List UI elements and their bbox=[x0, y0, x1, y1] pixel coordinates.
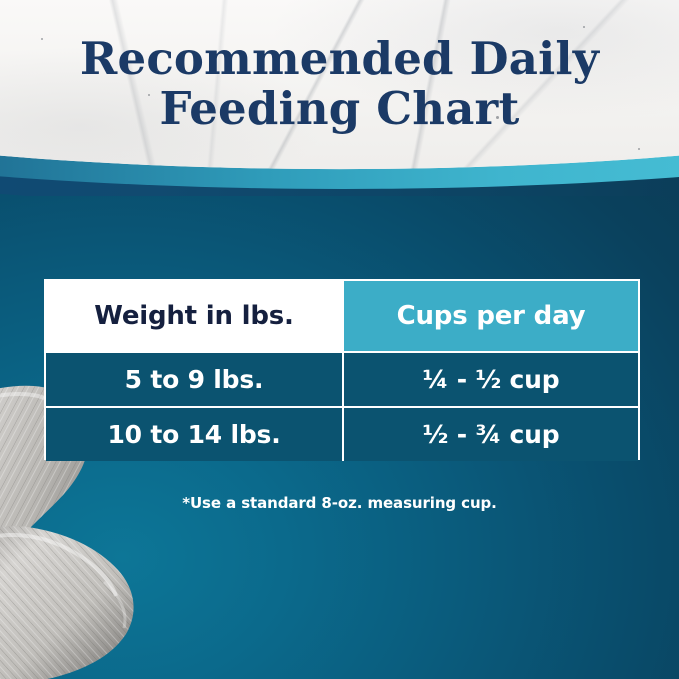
table-row: 10 to 14 lbs. ½ - ¾ cup bbox=[46, 406, 638, 461]
column-header-weight: Weight in lbs. bbox=[46, 281, 342, 351]
table-header-row: Weight in lbs. Cups per day bbox=[46, 281, 638, 351]
cell-weight-range: 5 to 9 lbs. bbox=[46, 353, 342, 406]
table-row: 5 to 9 lbs. ¼ - ½ cup bbox=[46, 351, 638, 406]
feeding-chart-table: Weight in lbs. Cups per day 5 to 9 lbs. … bbox=[44, 279, 640, 460]
column-header-cups: Cups per day bbox=[342, 281, 638, 351]
marble-speck bbox=[583, 26, 585, 28]
cell-cups-amount: ¼ - ½ cup bbox=[342, 353, 638, 406]
cell-cups-amount: ½ - ¾ cup bbox=[342, 408, 638, 461]
footnote-text: *Use a standard 8-oz. measuring cup. bbox=[0, 494, 679, 512]
page-title-line-1: Recommended Daily bbox=[80, 32, 599, 85]
page-title: Recommended Daily Feeding Chart bbox=[0, 34, 679, 134]
cell-weight-range: 10 to 14 lbs. bbox=[46, 408, 342, 461]
marble-speck bbox=[638, 148, 640, 150]
page-title-line-2: Feeding Chart bbox=[0, 84, 679, 134]
feeding-chart-poster: Recommended Daily Feeding Chart bbox=[0, 0, 679, 679]
